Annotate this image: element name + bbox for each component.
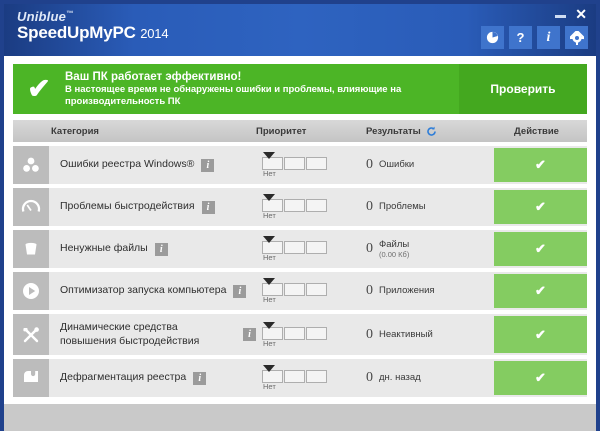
row-label: Проблемы быстродействия (60, 200, 195, 213)
table-row[interactable]: Проблемы быстродействия i Нет 0 Пробл (13, 188, 587, 226)
slider-handle[interactable] (263, 194, 275, 201)
slider-segment[interactable] (284, 199, 305, 212)
help-icon[interactable]: ? (509, 26, 532, 49)
row-label-cell: Дефрагментация реестра i (49, 359, 256, 397)
priority-cell[interactable]: Нет (256, 314, 366, 355)
play-circle-icon (13, 272, 49, 310)
defrag-icon (13, 359, 49, 397)
result-text: дн. назад (379, 372, 421, 383)
slider-segment[interactable] (306, 283, 327, 296)
row-label: Ошибки реестра Windows® (60, 158, 194, 171)
brand-product-text: SpeedUpMyPC (17, 23, 136, 42)
slider-segment[interactable] (284, 241, 305, 254)
result-count: 0 (366, 370, 373, 386)
slider-segment[interactable] (284, 283, 305, 296)
row-label: Динамические средства повышения быстроде… (60, 321, 236, 347)
result-label: дн. назад (379, 372, 421, 383)
info-badge-icon[interactable]: i (193, 372, 206, 385)
info-badge-icon[interactable]: i (233, 285, 246, 298)
priority-label: Нет (262, 253, 366, 262)
results-cell: 0 Приложения (366, 272, 486, 310)
info-badge-icon[interactable]: i (201, 159, 214, 172)
status-title: Ваш ПК работает эффективно! (65, 71, 453, 83)
table-row[interactable]: Ошибки реестра Windows® i Нет 0 Ошибк (13, 146, 587, 184)
priority-slider[interactable] (262, 278, 366, 296)
action-check-button[interactable]: ✔ (494, 316, 587, 353)
result-count: 0 (366, 241, 373, 257)
slider-segment[interactable] (284, 157, 305, 170)
result-label: Файлы (379, 239, 409, 250)
status-check-icon: ✔ (13, 64, 65, 114)
priority-label: Нет (262, 339, 366, 348)
header-results-label: Результаты (366, 126, 421, 137)
results-cell: 0 Проблемы (366, 188, 486, 226)
priority-label: Нет (262, 295, 366, 304)
status-banner-text: Ваш ПК работает эффективно! В настоящее … (65, 64, 459, 114)
result-count: 0 (366, 199, 373, 215)
result-count: 0 (366, 327, 373, 343)
row-label-cell: Ошибки реестра Windows® i (49, 146, 256, 184)
slider-segment[interactable] (306, 370, 327, 383)
toolbar-icons: ? i (481, 26, 588, 49)
result-text: Ошибки (379, 159, 414, 170)
table-row[interactable]: Дефрагментация реестра i Нет 0 дн. на (13, 359, 587, 397)
info-badge-icon[interactable]: i (243, 328, 256, 341)
result-label: Неактивный (379, 329, 433, 340)
priority-slider[interactable] (262, 194, 366, 212)
app-window: Uniblue™ SpeedUpMyPC 2014 ✕ ? i ✔ Ваш ПК… (0, 0, 600, 431)
result-text: Файлы (0.00 Кб) (379, 239, 409, 259)
priority-cell[interactable]: Нет (256, 272, 366, 310)
action-cell: ✔ (486, 359, 587, 397)
slider-handle[interactable] (263, 365, 275, 372)
result-sublabel: (0.00 Кб) (379, 250, 409, 259)
priority-slider[interactable] (262, 322, 366, 340)
table-row[interactable]: Ненужные файлы i Нет 0 Файлы (13, 230, 587, 268)
trademark-symbol: ™ (66, 11, 73, 18)
slider-handle[interactable] (263, 236, 275, 243)
priority-label: Нет (262, 382, 366, 391)
result-label: Приложения (379, 285, 435, 296)
brand-product: SpeedUpMyPC 2014 (17, 24, 168, 42)
header-category: Категория (13, 126, 256, 137)
action-cell: ✔ (486, 230, 587, 268)
slider-segment[interactable] (284, 327, 305, 340)
result-count: 0 (366, 157, 373, 173)
info-badge-icon[interactable]: i (155, 243, 168, 256)
priority-slider[interactable] (262, 152, 366, 170)
results-cell: 0 дн. назад (366, 359, 486, 397)
result-label: Проблемы (379, 201, 426, 212)
pie-chart-icon[interactable] (481, 26, 504, 49)
status-subtitle-line1: В настоящее время не обнаружены ошибки и… (65, 84, 453, 96)
row-label-cell: Проблемы быстродействия i (49, 188, 256, 226)
slider-handle[interactable] (263, 322, 275, 329)
result-text: Приложения (379, 285, 435, 296)
priority-cell[interactable]: Нет (256, 146, 366, 184)
priority-slider[interactable] (262, 236, 366, 254)
slider-segment[interactable] (306, 241, 327, 254)
window-controls: ✕ (555, 7, 587, 21)
brand-year: 2014 (140, 26, 168, 41)
action-cell: ✔ (486, 146, 587, 184)
row-label-cell: Оптимизатор запуска компьютера i (49, 272, 256, 310)
trash-bin-icon (13, 230, 49, 268)
title-bar: Uniblue™ SpeedUpMyPC 2014 ✕ ? i (4, 4, 596, 56)
slider-segment[interactable] (306, 199, 327, 212)
action-check-button[interactable]: ✔ (494, 190, 587, 224)
result-text: Неактивный (379, 329, 433, 340)
table-row[interactable]: Динамические средства повышения быстроде… (13, 314, 587, 355)
result-text: Проблемы (379, 201, 426, 212)
table-row[interactable]: Оптимизатор запуска компьютера i Нет 0 (13, 272, 587, 310)
minimize-button[interactable] (555, 15, 566, 18)
slider-segment[interactable] (306, 327, 327, 340)
priority-label: Нет (262, 169, 366, 178)
header-priority: Приоритет (256, 126, 366, 137)
slider-segment[interactable] (306, 157, 327, 170)
brand-logo: Uniblue™ SpeedUpMyPC 2014 (17, 10, 168, 41)
info-badge-icon[interactable]: i (202, 201, 215, 214)
row-label: Ненужные файлы (60, 242, 148, 255)
row-label-cell: Ненужные файлы i (49, 230, 256, 268)
settings-gear-icon[interactable] (565, 26, 588, 49)
status-banner: ✔ Ваш ПК работает эффективно! В настояще… (13, 64, 587, 114)
row-label: Дефрагментация реестра (60, 371, 186, 384)
categories-table: Категория Приоритет Результаты Действие … (13, 120, 587, 397)
header-results: Результаты (366, 126, 486, 137)
info-icon[interactable]: i (537, 26, 560, 49)
status-subtitle-line2: производительность ПК (65, 96, 453, 108)
row-label: Оптимизатор запуска компьютера (60, 284, 226, 297)
table-header-row: Категория Приоритет Результаты Действие (13, 120, 587, 142)
priority-cell[interactable]: Нет (256, 230, 366, 268)
result-count: 0 (366, 283, 373, 299)
priority-cell[interactable]: Нет (256, 359, 366, 397)
registry-errors-icon (13, 146, 49, 184)
results-cell: 0 Неактивный (366, 314, 486, 355)
action-check-button[interactable]: ✔ (494, 274, 587, 308)
results-cell: 0 Файлы (0.00 Кб) (366, 230, 486, 268)
slider-handle[interactable] (263, 278, 275, 285)
table-rows: Ошибки реестра Windows® i Нет 0 Ошибк (13, 142, 587, 397)
action-check-button[interactable]: ✔ (494, 361, 587, 395)
action-cell: ✔ (486, 188, 587, 226)
close-button[interactable]: ✕ (575, 7, 587, 21)
result-label: Ошибки (379, 159, 414, 170)
row-label-cell: Динамические средства повышения быстроде… (49, 314, 256, 355)
priority-cell[interactable]: Нет (256, 188, 366, 226)
speedometer-icon (13, 188, 49, 226)
scan-button[interactable]: Проверить (459, 64, 587, 114)
footer-bar (4, 403, 596, 431)
priority-label: Нет (262, 211, 366, 220)
slider-segment[interactable] (284, 370, 305, 383)
action-cell: ✔ (486, 272, 587, 310)
results-cell: 0 Ошибки (366, 146, 486, 184)
refresh-icon[interactable] (426, 126, 437, 137)
action-check-button[interactable]: ✔ (494, 232, 587, 266)
action-check-button[interactable]: ✔ (494, 148, 587, 182)
slider-handle[interactable] (263, 152, 275, 159)
tools-icon (13, 314, 49, 355)
action-cell: ✔ (486, 314, 587, 355)
header-action: Действие (486, 126, 587, 137)
priority-slider[interactable] (262, 365, 366, 383)
brand-company: Uniblue™ (17, 10, 168, 24)
